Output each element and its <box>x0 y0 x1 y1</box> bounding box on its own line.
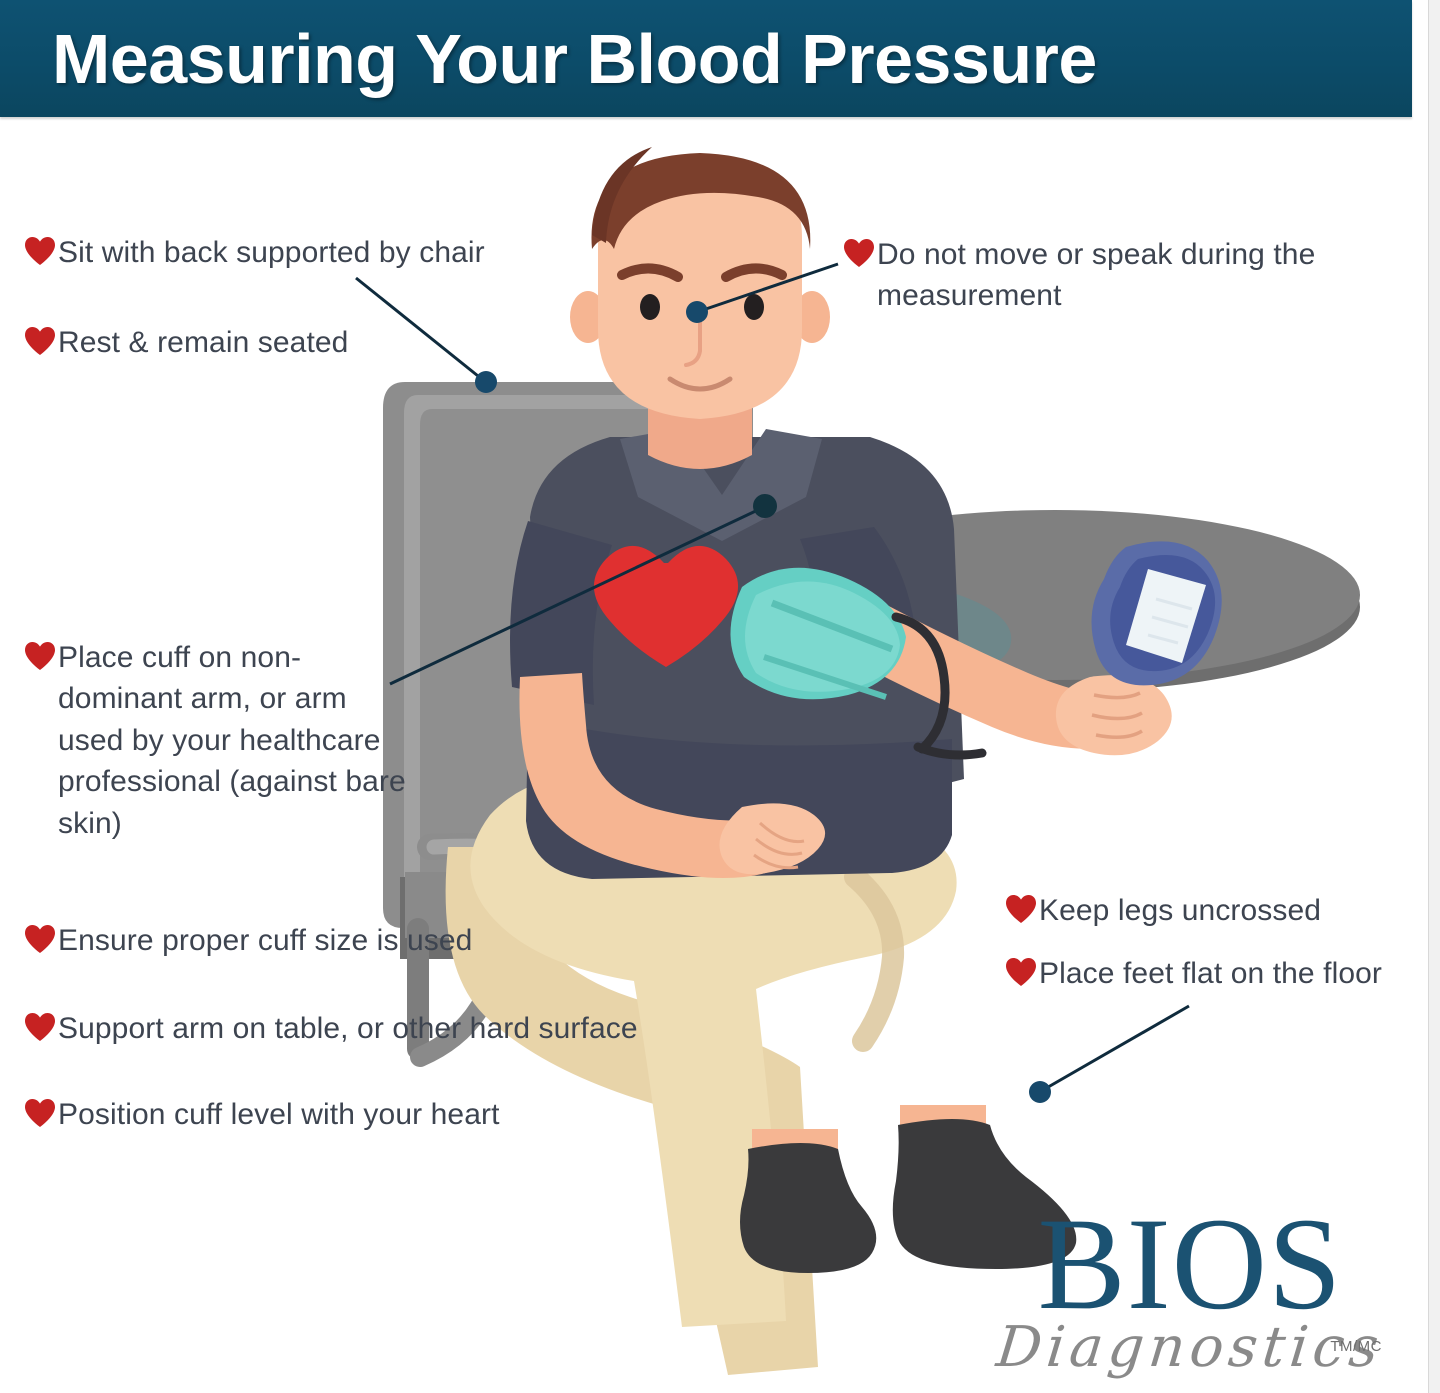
head-connector-line <box>700 264 838 311</box>
cuff-connector-dot <box>753 494 777 518</box>
heart-bullet-icon <box>24 1098 56 1128</box>
heart-bullet-icon <box>24 326 56 356</box>
page-title: Measuring Your Blood Pressure <box>52 19 1097 99</box>
heart-bullet-icon <box>1005 894 1037 924</box>
heart-bullet-icon <box>843 238 875 268</box>
right-eye <box>744 294 764 320</box>
left-eye <box>640 294 660 320</box>
cuff-hose <box>896 617 945 749</box>
note-sit-back-supported: Sit with back supported by chair <box>24 232 584 273</box>
note-place-cuff: Place cuff on non-dominant arm, or arm u… <box>24 637 414 844</box>
note-support-arm: Support arm on table, or other hard surf… <box>24 1008 764 1049</box>
left-arm <box>519 673 778 878</box>
note-legs-uncrossed: Keep legs uncrossed <box>1005 890 1440 931</box>
heart-bullet-icon <box>24 1012 56 1042</box>
title-banner: Measuring Your Blood Pressure <box>0 0 1412 117</box>
right-sleeve <box>800 527 916 667</box>
note-proper-cuff-size: Ensure proper cuff size is used <box>24 920 584 961</box>
note-text: Rest & remain seated <box>58 322 348 363</box>
note-do-not-move: Do not move or speak during the measurem… <box>843 234 1343 317</box>
left-ear <box>570 291 606 343</box>
logo-brand-name: BIOS <box>990 1198 1390 1330</box>
note-text: Place cuff on non-dominant arm, or arm u… <box>58 637 414 844</box>
near-leg <box>470 774 956 1327</box>
table <box>750 510 1360 762</box>
polo-shirt <box>530 437 964 808</box>
left-eyebrow <box>622 268 678 277</box>
note-text: Support arm on table, or other hard surf… <box>58 1008 638 1049</box>
chair <box>383 382 886 1079</box>
note-text: Sit with back supported by chair <box>58 232 485 273</box>
left-shoe <box>740 1143 876 1273</box>
chair-back-connector-dot <box>475 371 497 393</box>
table-shadow <box>780 579 1011 673</box>
heart-bullet-icon <box>24 924 56 954</box>
note-rest-remain-seated: Rest & remain seated <box>24 322 494 363</box>
neck <box>648 389 752 469</box>
heart-bullet-icon <box>24 641 56 671</box>
note-text: Keep legs uncrossed <box>1039 890 1321 931</box>
hair <box>591 153 810 249</box>
note-feet-flat-floor: Place feet flat on the floor <box>1005 953 1440 994</box>
shirt-collar <box>620 429 822 541</box>
foot-connector-line <box>1043 1006 1189 1090</box>
note-text: Do not move or speak during the measurem… <box>877 234 1343 317</box>
cuff-connector-line <box>390 508 762 684</box>
foot-connector-dot <box>1029 1081 1051 1103</box>
bios-diagnostics-logo: BIOS Diagnostics TM/MC <box>990 1198 1390 1388</box>
blood-pressure-cuff <box>730 568 982 755</box>
heart-bullet-icon <box>24 236 56 266</box>
right-eyebrow <box>726 268 782 277</box>
nose <box>686 317 700 365</box>
right-ear <box>794 291 830 343</box>
heart-bullet-icon <box>1005 957 1037 987</box>
left-hand <box>720 803 826 874</box>
note-text: Ensure proper cuff size is used <box>58 920 472 961</box>
monitor-screen <box>1126 569 1206 663</box>
mouth <box>670 379 730 389</box>
right-hand <box>1056 675 1172 755</box>
note-text: Place feet flat on the floor <box>1039 953 1382 994</box>
head-connector-dot <box>686 301 708 323</box>
note-text: Position cuff level with your heart <box>58 1094 500 1135</box>
logo-trademark: TM/MC <box>1330 1338 1382 1355</box>
head <box>598 159 802 419</box>
heart-on-chest <box>594 546 738 667</box>
page-edge-strip <box>1428 0 1440 1393</box>
right-arm <box>832 595 1114 749</box>
note-cuff-level-heart: Position cuff level with your heart <box>24 1094 624 1135</box>
blood-pressure-monitor <box>1092 541 1222 685</box>
left-sleeve <box>510 521 612 705</box>
